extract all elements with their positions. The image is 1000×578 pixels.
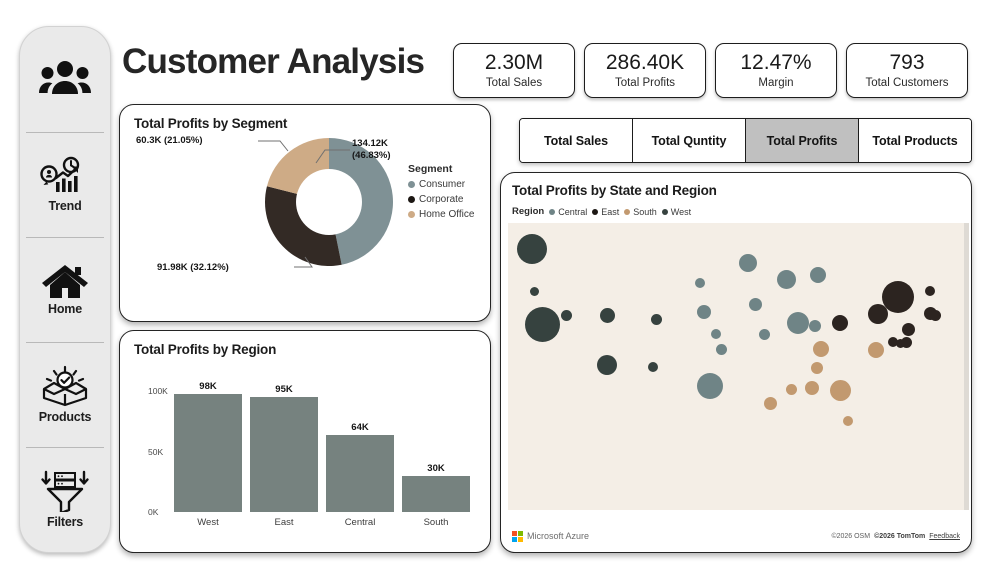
- kpi-card-total-customers[interactable]: 793 Total Customers: [846, 43, 968, 98]
- map-bubble-south[interactable]: [811, 362, 823, 374]
- map-scrollbar[interactable]: [964, 223, 969, 510]
- map-bubble-west[interactable]: [651, 314, 662, 325]
- kpi-value: 2.30M: [485, 50, 543, 75]
- map-bubble-canvas[interactable]: [508, 223, 964, 510]
- legend-label: Home Office: [419, 209, 474, 220]
- legend-label: West: [671, 207, 691, 217]
- tab-total-profits[interactable]: Total Profits: [746, 119, 859, 162]
- map-bubble-east[interactable]: [901, 337, 912, 348]
- tab-total-sales[interactable]: Total Sales: [520, 119, 633, 162]
- trend-analytics-icon: [40, 156, 90, 196]
- sidebar-item-filters[interactable]: Filters: [20, 447, 110, 552]
- customers-group-icon: [39, 60, 91, 96]
- map-bubble-central[interactable]: [711, 329, 721, 339]
- kpi-label: Total Sales: [486, 75, 542, 91]
- bar-column-east[interactable]: 95KEast: [250, 379, 318, 512]
- legend-label: South: [633, 207, 657, 217]
- legend-item-west[interactable]: West: [662, 207, 691, 217]
- segment-donut-panel: Total Profits by Segment 134.12K (46.83%…: [119, 104, 491, 322]
- home-icon: [41, 263, 89, 299]
- map-region-legend: Region Central East South West: [512, 206, 691, 217]
- azure-brand: Microsoft Azure: [512, 531, 589, 542]
- state-region-map-panel: Total Profits by State and Region Region…: [500, 172, 972, 553]
- map-bubble-central[interactable]: [777, 270, 796, 289]
- map-bubble-west[interactable]: [525, 307, 560, 342]
- bar-category-label: West: [197, 517, 218, 528]
- map-bubble-central[interactable]: [809, 320, 821, 332]
- measure-tab-strip: Total Sales Total Quntity Total Profits …: [519, 118, 972, 163]
- map-bubble-west[interactable]: [600, 308, 615, 323]
- sidebar-item-products[interactable]: Products: [20, 342, 110, 447]
- kpi-card-margin[interactable]: 12.47% Margin: [715, 43, 837, 98]
- bar-chart: 100K50K0K 98KWest95KEast64KCentral30KSou…: [148, 369, 478, 534]
- map-bubble-central[interactable]: [697, 305, 711, 319]
- bar-y-tick: 50K: [148, 447, 163, 457]
- map-bubble-central[interactable]: [716, 344, 727, 355]
- bar-category-label: East: [274, 517, 293, 528]
- map-bubble-central[interactable]: [695, 278, 705, 288]
- bar-rect[interactable]: [402, 476, 470, 512]
- bar-y-tick: 100K: [148, 386, 168, 396]
- azure-brand-label: Microsoft Azure: [527, 531, 589, 541]
- map-bubble-central[interactable]: [759, 329, 770, 340]
- donut-chart: 134.12K (46.83%) 60.3K (21.05%) 91.98K (…: [120, 105, 492, 323]
- map-bubble-east[interactable]: [832, 315, 848, 331]
- map-bubble-east[interactable]: [930, 310, 941, 321]
- bar-value-label: 95K: [275, 384, 292, 395]
- legend-item-corporate[interactable]: Corporate: [408, 194, 474, 205]
- panel-title: Total Profits by State and Region: [512, 183, 717, 198]
- legend-color-dot: [624, 209, 630, 215]
- bar-rect[interactable]: [174, 394, 242, 512]
- map-bubble-south[interactable]: [843, 416, 853, 426]
- map-bubble-central[interactable]: [810, 267, 826, 283]
- attribution-tomtom: ©2026 TomTom: [874, 533, 925, 540]
- legend-title: Region: [512, 206, 544, 217]
- tab-total-quntity[interactable]: Total Quntity: [633, 119, 746, 162]
- bar-series: 98KWest95KEast64KCentral30KSouth: [170, 379, 474, 512]
- feedback-link[interactable]: Feedback: [929, 533, 960, 540]
- map-bubble-west[interactable]: [648, 362, 658, 372]
- sidebar-item-label: Trend: [48, 199, 81, 213]
- map-bubble-west[interactable]: [561, 310, 572, 321]
- tab-total-products[interactable]: Total Products: [859, 119, 971, 162]
- bar-rect[interactable]: [326, 435, 394, 512]
- legend-label: Corporate: [419, 194, 463, 205]
- legend-title: Segment: [408, 163, 474, 175]
- legend-color-dot: [592, 209, 598, 215]
- legend-item-home-office[interactable]: Home Office: [408, 209, 474, 220]
- kpi-label: Margin: [758, 75, 793, 91]
- bar-column-south[interactable]: 30KSouth: [402, 379, 470, 512]
- legend-item-consumer[interactable]: Consumer: [408, 179, 474, 190]
- bar-column-central[interactable]: 64KCentral: [326, 379, 394, 512]
- map-bubble-east[interactable]: [882, 281, 914, 313]
- bar-rect[interactable]: [250, 397, 318, 512]
- legend-item-south[interactable]: South: [624, 207, 657, 217]
- product-box-check-icon: [38, 365, 92, 407]
- map-bubble-south[interactable]: [830, 380, 851, 401]
- bar-category-label: Central: [345, 517, 376, 528]
- donut-label-consumer: 134.12K (46.83%): [352, 138, 391, 162]
- map-attribution: ©2026 OSM ©2026 TomTom Feedback: [831, 533, 960, 540]
- map-bubble-south[interactable]: [868, 342, 884, 358]
- legend-color-dot: [662, 209, 668, 215]
- sidebar-item-home[interactable]: Home: [20, 237, 110, 342]
- kpi-label: Total Customers: [865, 75, 948, 91]
- legend-item-central[interactable]: Central: [549, 207, 587, 217]
- map-bubble-west[interactable]: [530, 287, 539, 296]
- sidebar: Trend Home: [19, 26, 111, 553]
- kpi-value: 793: [889, 50, 924, 75]
- kpi-row: 2.30M Total Sales 286.40K Total Profits …: [453, 43, 968, 98]
- legend-color-dot: [408, 181, 415, 188]
- bar-value-label: 98K: [199, 381, 216, 392]
- map-footer: Microsoft Azure ©2026 OSM ©2026 TomTom F…: [508, 526, 964, 546]
- sidebar-item-trend[interactable]: Trend: [20, 132, 110, 237]
- bar-value-label: 64K: [351, 422, 368, 433]
- segment-legend: Segment Consumer Corporate Home Office: [408, 163, 474, 224]
- map-bubble-south[interactable]: [805, 381, 819, 395]
- map-bubble-central[interactable]: [697, 373, 723, 399]
- filter-funnel-icon: [38, 470, 92, 512]
- bar-category-label: South: [424, 517, 449, 528]
- page-title: Customer Analysis: [122, 40, 424, 84]
- sidebar-item-label: Filters: [47, 515, 83, 529]
- map-bubble-central[interactable]: [739, 254, 757, 272]
- microsoft-logo-icon: [512, 531, 523, 542]
- legend-color-dot: [408, 196, 415, 203]
- donut-label-home-office: 60.3K (21.05%): [136, 135, 203, 147]
- panel-title: Total Profits by Region: [134, 342, 276, 357]
- donut-label-corporate: 91.98K (32.12%): [157, 262, 229, 274]
- legend-label: Central: [558, 207, 587, 217]
- sidebar-item-label: Products: [39, 410, 92, 424]
- bar-y-tick: 0K: [148, 507, 158, 517]
- kpi-value: 12.47%: [740, 50, 811, 75]
- legend-label: Consumer: [419, 179, 465, 190]
- kpi-card-total-sales[interactable]: 2.30M Total Sales: [453, 43, 575, 98]
- legend-color-dot: [549, 209, 555, 215]
- region-bar-panel: Total Profits by Region 100K50K0K 98KWes…: [119, 330, 491, 553]
- legend-item-east[interactable]: East: [592, 207, 619, 217]
- kpi-value: 286.40K: [606, 50, 684, 75]
- map-bubble-west[interactable]: [597, 355, 617, 375]
- kpi-card-total-profits[interactable]: 286.40K Total Profits: [584, 43, 706, 98]
- map-bubble-east[interactable]: [902, 323, 915, 336]
- dashboard-root: Trend Home: [0, 0, 1000, 578]
- bar-column-west[interactable]: 98KWest: [174, 379, 242, 512]
- map-bubble-west[interactable]: [517, 234, 547, 264]
- sidebar-item-customers[interactable]: [20, 27, 110, 132]
- attribution-osm: ©2026 OSM: [831, 533, 870, 540]
- map-bubble-south[interactable]: [786, 384, 797, 395]
- map-bubble-south[interactable]: [764, 397, 777, 410]
- sidebar-item-label: Home: [48, 302, 82, 316]
- map-bubble-central[interactable]: [749, 298, 762, 311]
- bar-value-label: 30K: [427, 463, 444, 474]
- map-bubble-central[interactable]: [787, 312, 809, 334]
- legend-color-dot: [408, 211, 415, 218]
- kpi-label: Total Profits: [615, 75, 675, 91]
- map-bubble-east[interactable]: [925, 286, 935, 296]
- map-bubble-south[interactable]: [813, 341, 829, 357]
- legend-label: East: [601, 207, 619, 217]
